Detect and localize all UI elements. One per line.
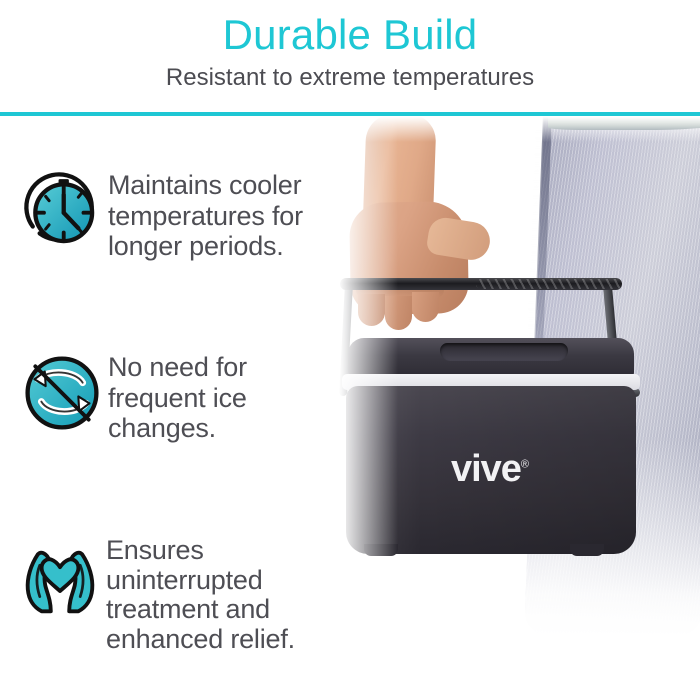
feature-row-maintains-cooler: Maintains cooler temperatures for longer… [16,168,303,262]
feature-line: frequent ice [108,383,247,414]
product-photo: vive® [336,116,700,700]
cooler-foot [570,544,604,556]
brand-logo: vive® [338,448,642,491]
feature-row-uninterrupted-treatment: Ensures uninterrupted treatment and enha… [14,534,295,655]
shirt-hem [548,116,700,130]
feature-row-no-ice-changes: No need for frequent ice changes. [16,350,247,444]
finger [412,292,439,322]
finger [358,294,385,326]
feature-line: changes. [108,413,247,444]
finger [385,296,412,330]
feature-line: No need for [108,352,247,383]
feature-line: treatment and [106,595,295,625]
cooler-product: vive® [338,338,642,556]
feature-line: uninterrupted [106,566,295,596]
feature-line: Maintains cooler [108,170,303,201]
page-subtitle: Resistant to extreme temperatures [0,66,700,90]
feature-text: No need for frequent ice changes. [108,350,247,444]
header: Durable Build Resistant to extreme tempe… [0,0,700,116]
trademark-symbol: ® [521,458,529,470]
cooler-handle-grip-texture [476,279,622,289]
feature-line: temperatures for [108,201,303,232]
feature-line: Ensures [106,536,295,566]
cooler-lid-grip [440,343,568,361]
feature-line: longer periods. [108,231,303,262]
feature-text: Maintains cooler temperatures for longer… [108,168,303,262]
brand-name: vive [451,448,521,490]
page-title: Durable Build [0,14,700,56]
infographic-page: Durable Build Resistant to extreme tempe… [0,0,700,700]
no-ice-change-icon [16,350,108,436]
clock-rotate-icon [16,168,108,254]
cooler-foot [364,544,398,556]
feature-text: Ensures uninterrupted treatment and enha… [106,534,295,655]
hands-heart-icon [14,534,106,626]
feature-line: enhanced relief. [106,625,295,655]
